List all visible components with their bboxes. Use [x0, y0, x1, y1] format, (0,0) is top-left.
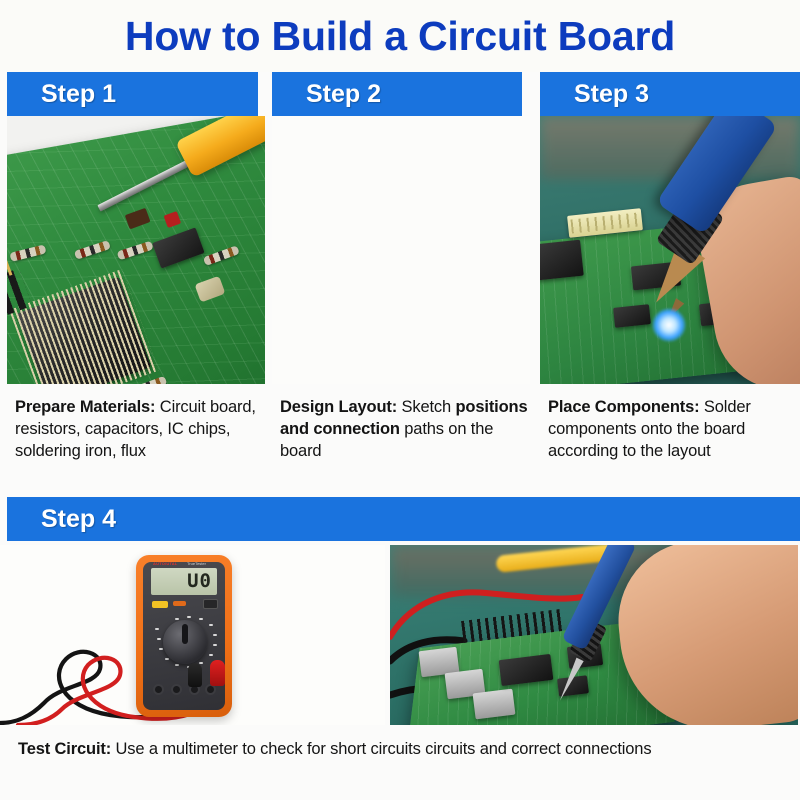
- multimeter-orange-button[interactable]: [173, 601, 186, 606]
- step-4-caption-bold: Test Circuit:: [18, 740, 111, 758]
- step-card-4: Step 4 AUTO/UTAL TrueTester U0: [0, 497, 800, 800]
- multimeter-icon: AUTO/UTAL TrueTester U0: [136, 555, 232, 717]
- step-4-caption-text: Use a multimeter to check for short circ…: [111, 740, 651, 758]
- black-probe-plug: [188, 663, 202, 687]
- step-1-caption-bold: Prepare Materials:: [15, 398, 155, 416]
- multimeter-port-2[interactable]: [171, 684, 182, 695]
- step-3-caption: Place Components: Solder components onto…: [540, 384, 800, 462]
- steps-row: Step 1 Prepare Materials: Circuit board,…: [0, 72, 800, 490]
- multimeter-hold-button[interactable]: [203, 599, 218, 609]
- step-card-2: Step 2: [265, 72, 533, 490]
- step-1-image: [7, 116, 265, 384]
- multimeter-yellow-button[interactable]: [152, 601, 168, 608]
- step-1-caption: Prepare Materials: Circuit board, resist…: [7, 384, 269, 462]
- step-4-image-left: AUTO/UTAL TrueTester U0: [0, 545, 385, 725]
- step-1-label: Step 1: [41, 82, 116, 107]
- step-2-label: Step 2: [306, 82, 381, 107]
- step-3-caption-bold: Place Components:: [548, 398, 699, 416]
- step-2-caption-bold: Design Layout:: [280, 398, 397, 416]
- red-probe-plug: [210, 660, 225, 686]
- step-2-caption: Design Layout: Sketch positions and conn…: [272, 384, 534, 462]
- step-1-header-bar: Step 1: [7, 72, 258, 116]
- step-2-image: [272, 116, 530, 384]
- step-2-caption-mid: Sketch: [397, 398, 455, 416]
- step-3-image: [540, 116, 800, 384]
- step-4-caption: Test Circuit: Use a multimeter to check …: [0, 725, 740, 760]
- step-card-1: Step 1 Prepare Materials: Circuit board,…: [0, 72, 265, 490]
- step-4-label: Step 4: [41, 507, 116, 532]
- multimeter-port-1[interactable]: [153, 684, 164, 695]
- step-3-label: Step 3: [574, 82, 649, 107]
- page-header: How to Build a Circuit Board: [0, 0, 800, 72]
- multimeter-brand-secondary: TrueTester: [187, 561, 206, 566]
- page-title: How to Build a Circuit Board: [125, 13, 675, 60]
- solder-spark-icon: [652, 308, 686, 342]
- multimeter-rotary-dial[interactable]: [163, 620, 207, 664]
- step-3-header-bar: Step 3: [540, 72, 800, 116]
- multimeter-brand: AUTO/UTAL: [153, 561, 178, 566]
- step-card-3: Step 3 Place Components: Solder componen…: [533, 72, 800, 490]
- step-2-header-bar: Step 2: [272, 72, 522, 116]
- microcontroller-chip-icon: [17, 277, 151, 384]
- multimeter-display: U0: [151, 568, 217, 595]
- step-4-image-right: [390, 545, 798, 725]
- step-4-header-bar: Step 4: [7, 497, 800, 541]
